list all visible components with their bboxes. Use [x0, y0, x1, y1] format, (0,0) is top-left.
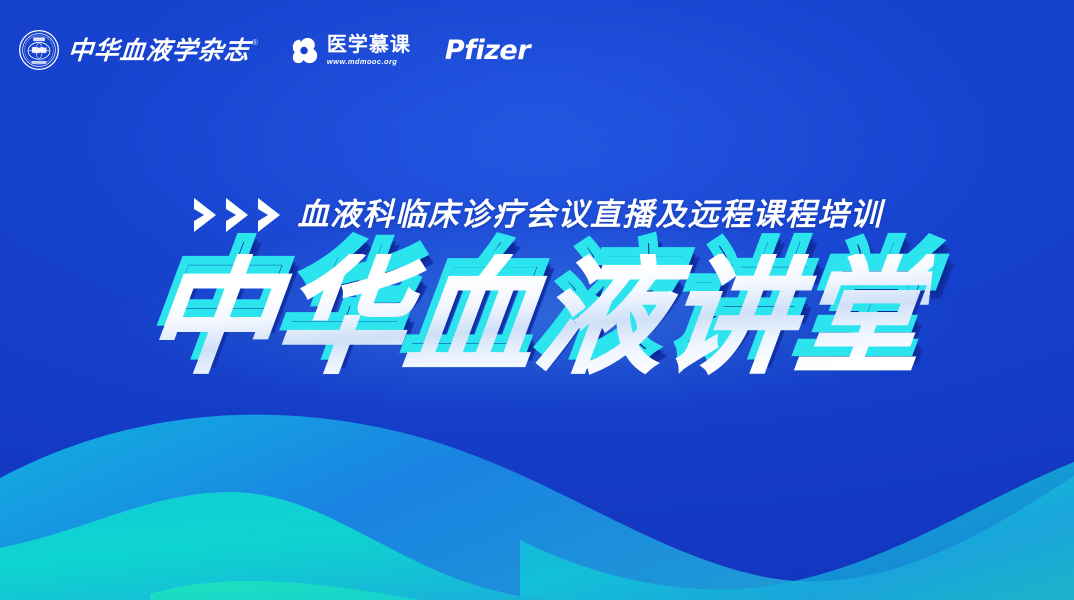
- mooc-url: www.mdmooc.org: [327, 58, 411, 66]
- main-title-wrap: 中华血液讲堂 中华血液讲堂 中华血液讲堂 中华血液讲堂: [0, 238, 1074, 398]
- trademark-mark: ®: [252, 39, 258, 47]
- mooc-logo: 医学慕课 www.mdmooc.org: [290, 35, 411, 66]
- wave-decoration: [0, 380, 1074, 600]
- title-face-layer: 中华血液讲堂: [139, 254, 935, 382]
- journal-logo: 中华血液学杂志 ®: [18, 29, 258, 71]
- journal-wordmark: 中华血液学杂志 ®: [68, 38, 258, 63]
- sponsor-logo-bar: 中华血液学杂志 ® 医学慕课 www.mdmooc.org Pfizer: [18, 24, 530, 76]
- event-banner: 中华血液学杂志 ® 医学慕课 www.mdmooc.org Pfizer: [0, 0, 1074, 600]
- pfizer-wordmark: Pfizer: [445, 35, 530, 66]
- mooc-name: 医学慕课: [327, 35, 411, 55]
- mooc-cloud-mark-icon: [290, 35, 320, 65]
- main-title: 中华血液讲堂 中华血液讲堂 中华血液讲堂 中华血液讲堂: [147, 238, 927, 398]
- circular-globe-emblem-icon: [18, 29, 60, 71]
- event-subtitle: 血液科临床诊疗会议直播及远程课程培训: [298, 200, 883, 231]
- journal-name: 中华血液学杂志: [67, 38, 251, 63]
- mooc-text-block: 医学慕课 www.mdmooc.org: [327, 35, 411, 66]
- pfizer-logo: Pfizer: [445, 35, 530, 66]
